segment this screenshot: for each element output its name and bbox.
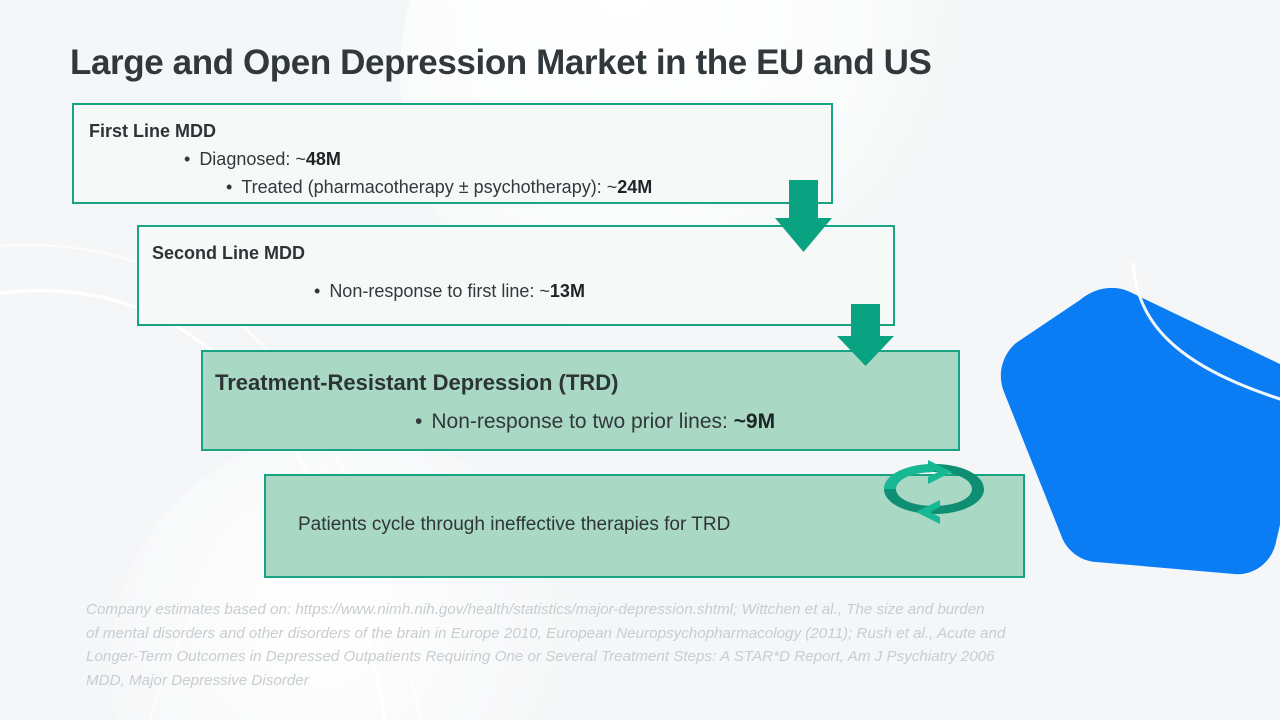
down-arrow-icon-1 [775, 180, 832, 252]
bullet-dot-icon: • [226, 177, 232, 197]
footnote-line-3: Longer-Term Outcomes in Depressed Outpat… [86, 645, 1201, 669]
trd-bullet-nonresponse: •Non-response to two prior lines: ~9M [415, 410, 775, 434]
footnote-line-2: of mental disorders and other disorders … [86, 622, 1201, 646]
bullet-dot-icon: • [415, 410, 422, 433]
down-arrow-icon-2 [837, 304, 894, 366]
first-line-bullet-diagnosed: •Diagnosed: ~48M [184, 149, 341, 170]
bullet-text: Non-response to two prior lines: [431, 410, 733, 433]
cycle-arrows-icon [880, 458, 988, 526]
bullet-text: Diagnosed: ~ [199, 149, 306, 169]
trd-heading: Treatment-Resistant Depression (TRD) [215, 370, 618, 396]
second-line-mdd-heading: Second Line MDD [152, 243, 305, 264]
first-line-mdd-box: First Line MDD •Diagnosed: ~48M •Treated… [72, 103, 833, 204]
bullet-dot-icon: • [184, 149, 190, 169]
bullet-value: 13M [550, 281, 585, 301]
footnote-line-4: MDD, Major Depressive Disorder [86, 669, 1201, 693]
bullet-value: 48M [306, 149, 341, 169]
second-line-bullet-nonresponse: •Non-response to first line: ~13M [314, 281, 585, 302]
patient-cycle-text: Patients cycle through ineffective thera… [298, 514, 730, 536]
first-line-mdd-heading: First Line MDD [89, 121, 216, 142]
footnote: Company estimates based on: https://www.… [86, 598, 1201, 692]
bullet-text: Non-response to first line: ~ [329, 281, 550, 301]
page-title: Large and Open Depression Market in the … [70, 43, 931, 83]
bullet-value: ~9M [734, 410, 775, 433]
bullet-value: 24M [617, 177, 652, 197]
first-line-bullet-treated: •Treated (pharmacotherapy ± psychotherap… [226, 177, 652, 198]
footnote-line-1: Company estimates based on: https://www.… [86, 598, 1201, 622]
bullet-dot-icon: • [314, 281, 320, 301]
bullet-text: Treated (pharmacotherapy ± psychotherapy… [241, 177, 617, 197]
